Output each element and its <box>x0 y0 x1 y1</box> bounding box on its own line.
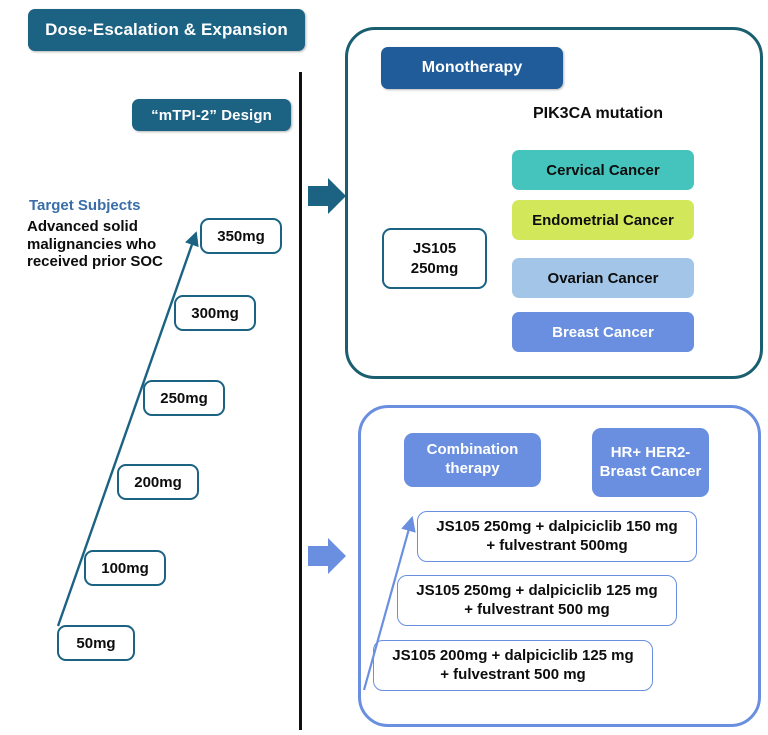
target-subjects-body: Advanced solid malignancies who received… <box>27 218 177 271</box>
combination-regimen-box: JS105 250mg + dalpiciclib 150 mg+ fulves… <box>417 511 697 562</box>
combination-therapy-chip: Combination therapy <box>404 433 541 487</box>
regimen-line-2: + fulvestrant 500 mg <box>440 666 585 683</box>
indication-chip: Endometrial Cancer <box>512 200 694 240</box>
js105-drug-name: JS105 <box>413 239 456 259</box>
indication-chip: Breast Cancer <box>512 312 694 352</box>
regimen-line-2: + fulvestrant 500 mg <box>464 601 609 618</box>
dose-box: 50mg <box>57 625 135 661</box>
js105-drug-dose: 250mg <box>411 259 459 279</box>
dose-box: 300mg <box>174 295 256 331</box>
right-arrow-dark <box>308 178 346 214</box>
monotherapy-chip: Monotherapy <box>381 47 563 89</box>
combination-regimen-box: JS105 200mg + dalpiciclib 125 mg+ fulves… <box>373 640 653 691</box>
dose-box: 200mg <box>117 464 199 500</box>
regimen-line-1: JS105 250mg + dalpiciclib 125 mg <box>416 582 657 599</box>
dose-box: 350mg <box>200 218 282 254</box>
combination-regimen-box: JS105 250mg + dalpiciclib 125 mg+ fulves… <box>397 575 677 626</box>
dose-box: 250mg <box>143 380 225 416</box>
pik3ca-mutation-label: PIK3CA mutation <box>533 105 663 123</box>
mtpi2-design-chip: “mTPI-2” Design <box>132 99 291 131</box>
regimen-line-1: JS105 250mg + dalpiciclib 150 mg <box>436 518 677 535</box>
indication-chip: Cervical Cancer <box>512 150 694 190</box>
diagram-canvas: Dose-Escalation & Expansion “mTPI-2” Des… <box>0 0 768 735</box>
hr-positive-her2-negative-breast-cancer-chip: HR+ HER2- Breast Cancer <box>592 428 709 497</box>
indication-chip: Ovarian Cancer <box>512 258 694 298</box>
vertical-divider <box>299 72 302 730</box>
target-subjects-heading: Target Subjects <box>29 197 140 214</box>
js105-dose-box: JS105 250mg <box>382 228 487 289</box>
regimen-line-2: + fulvestrant 500mg <box>486 537 627 554</box>
regimen-line-1: JS105 200mg + dalpiciclib 125 mg <box>392 647 633 664</box>
right-arrow-blue <box>308 538 346 574</box>
title-chip: Dose-Escalation & Expansion <box>28 9 305 51</box>
dose-box: 100mg <box>84 550 166 586</box>
